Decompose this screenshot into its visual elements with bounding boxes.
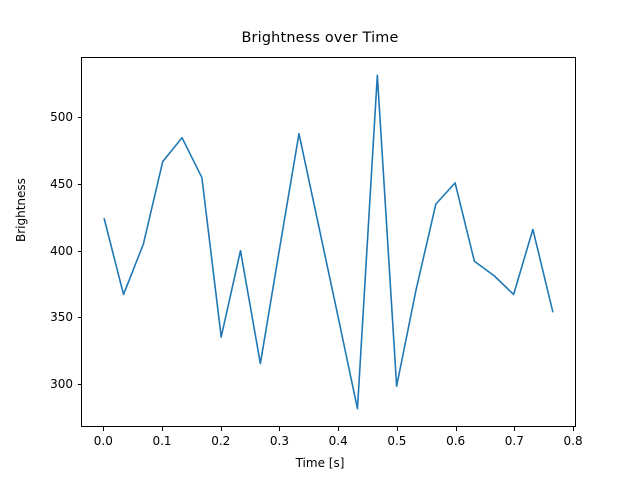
plot-area: [81, 57, 576, 427]
x-axis-tick-label: 0.5: [387, 434, 406, 448]
x-axis-tick-label: 0.1: [152, 434, 171, 448]
x-axis-tick-label: 0.3: [270, 434, 289, 448]
x-axis-tick-mark: [514, 427, 515, 431]
x-axis-tick-label: 0.0: [94, 434, 113, 448]
y-axis-tick-label: 450: [9, 177, 73, 191]
y-axis-tick-label: 500: [9, 110, 73, 124]
x-axis-tick-mark: [162, 427, 163, 431]
y-axis-tick-label: 350: [9, 310, 73, 324]
x-axis-tick-mark: [573, 427, 574, 431]
x-axis-tick-label: 0.7: [505, 434, 524, 448]
x-axis-tick-label: 0.4: [329, 434, 348, 448]
x-axis-tick-mark: [279, 427, 280, 431]
y-axis-tick-label: 400: [9, 244, 73, 258]
x-axis-tick-mark: [397, 427, 398, 431]
y-axis-tick-label: 300: [9, 377, 73, 391]
x-axis-tick-mark: [456, 427, 457, 431]
x-axis-tick-mark: [338, 427, 339, 431]
matplotlib-figure: Brightness over Time Brightness Time [s]…: [0, 0, 640, 480]
chart-title: Brightness over Time: [0, 30, 640, 46]
x-axis-tick-label: 0.6: [446, 434, 465, 448]
x-axis-tick-mark: [221, 427, 222, 431]
x-axis-tick-mark: [103, 427, 104, 431]
data-line-svg: [82, 58, 575, 426]
x-axis-tick-label: 0.8: [564, 434, 583, 448]
x-axis-label: Time [s]: [0, 456, 640, 470]
x-axis-tick-label: 0.2: [211, 434, 230, 448]
brightness-line-series: [104, 75, 553, 408]
